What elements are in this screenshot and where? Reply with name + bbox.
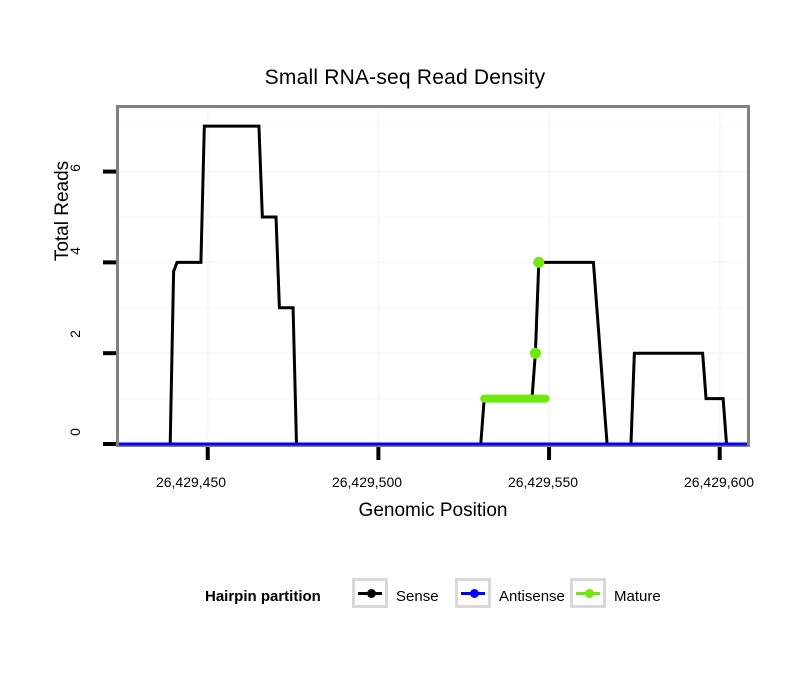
chart-container: Small RNA-seq Read Density Total Reads G… — [0, 0, 810, 690]
legend-label-antisense: Antisense — [499, 588, 565, 605]
series-point-mature — [533, 257, 544, 268]
plot-area — [0, 0, 810, 690]
legend-label-sense: Sense — [396, 588, 439, 605]
legend-label-mature: Mature — [614, 588, 661, 605]
legend-key-antisense[interactable] — [455, 578, 491, 608]
panel-background — [118, 107, 749, 446]
sense-dot-swatch — [367, 589, 376, 598]
mature-dot-swatch — [585, 589, 594, 598]
series-point-mature — [530, 348, 541, 359]
antisense-dot-swatch — [470, 589, 479, 598]
legend-key-sense[interactable] — [352, 578, 388, 608]
legend-title: Hairpin partition — [205, 588, 321, 605]
legend-key-mature[interactable] — [570, 578, 606, 608]
